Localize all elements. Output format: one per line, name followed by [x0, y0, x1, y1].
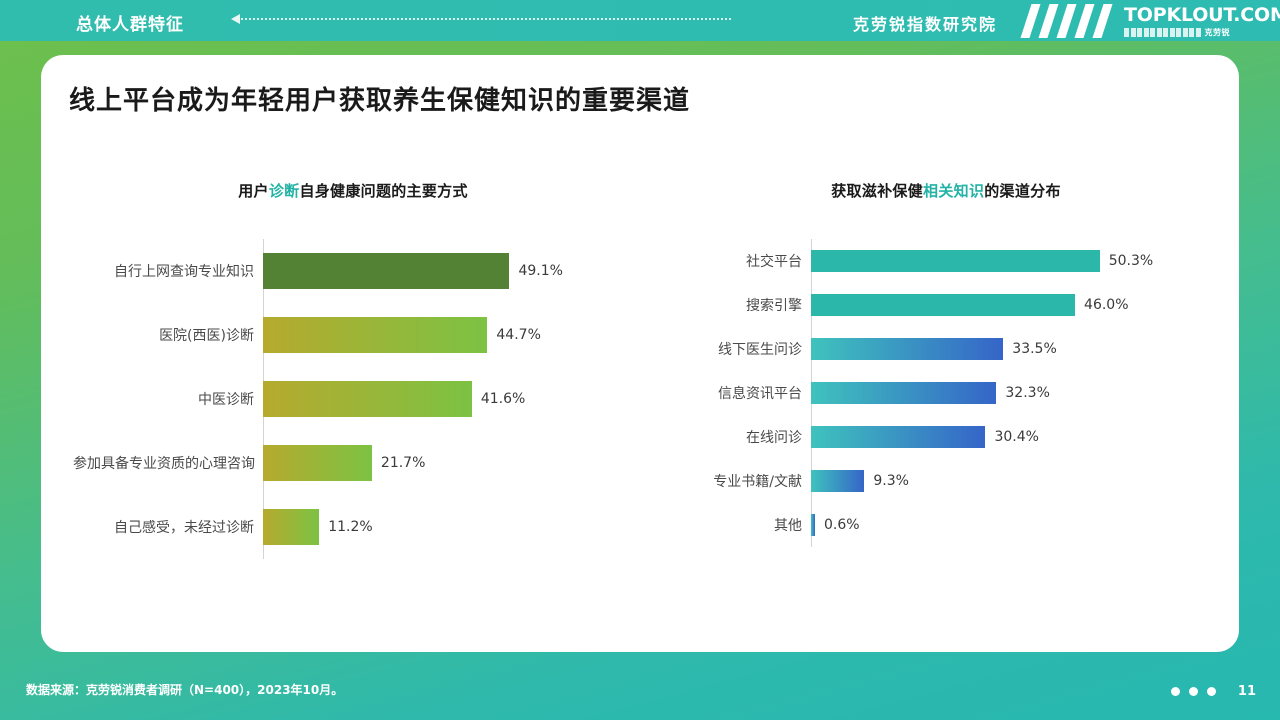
bar-chart-right: 社交平台50.3%搜索引擎46.0%线下医生问诊33.5%信息资讯平台32.3%…	[681, 239, 1211, 547]
bar-category-label: 在线问诊	[681, 427, 811, 447]
logo-chinese-name: 克劳锐	[1205, 27, 1231, 38]
bar-track: 32.3%	[811, 382, 1211, 404]
institute-name: 克劳锐指数研究院	[853, 11, 997, 35]
bar-track: 33.5%	[811, 338, 1211, 360]
slide-background: 总体人群特征 克劳锐指数研究院 TOPKLOUT.COM 克劳锐 线上平台成为年…	[0, 0, 1280, 720]
bar-track: 46.0%	[811, 294, 1211, 316]
bar-row: 专业书籍/文献9.3%	[681, 459, 1211, 503]
dotted-line-divider	[241, 18, 731, 20]
bar-row: 线下医生问诊33.5%	[681, 327, 1211, 371]
bar	[811, 294, 1075, 316]
content-card: 线上平台成为年轻用户获取养生保健知识的重要渠道 用户诊断自身健康问题的主要方式 …	[41, 55, 1239, 652]
logo-wordmark: TOPKLOUT.COM	[1124, 5, 1264, 25]
bar-row: 搜索引擎46.0%	[681, 283, 1211, 327]
bar-row: 中医诊断41.6%	[73, 367, 633, 431]
chart-panel-right: 获取滋补保健相关知识的渠道分布 社交平台50.3%搜索引擎46.0%线下医生问诊…	[681, 180, 1211, 580]
bar-track: 49.1%	[263, 253, 633, 289]
arrow-left-icon	[231, 14, 240, 24]
bar-value-label: 30.4%	[994, 429, 1038, 445]
footer-right-group: 11	[1171, 684, 1256, 699]
bar	[811, 382, 996, 404]
topklout-logo: TOPKLOUT.COM 克劳锐	[1124, 5, 1264, 38]
bar-row: 在线问诊30.4%	[681, 415, 1211, 459]
chart-title-right-part-2: 相关知识	[923, 182, 984, 200]
bar-category-label: 搜索引擎	[681, 295, 811, 315]
bar	[263, 445, 372, 481]
bar-track: 44.7%	[263, 317, 633, 353]
pagination-dots-icon	[1171, 687, 1216, 696]
bar-row: 医院(西医)诊断44.7%	[73, 303, 633, 367]
bar-track: 0.6%	[811, 514, 1211, 536]
header-bar: 总体人群特征 克劳锐指数研究院 TOPKLOUT.COM 克劳锐	[0, 0, 1280, 41]
bar-category-label: 专业书籍/文献	[681, 471, 811, 491]
bar-value-label: 46.0%	[1084, 297, 1128, 313]
bar-track: 11.2%	[263, 509, 633, 545]
bar-value-label: 32.3%	[1005, 385, 1049, 401]
bar-value-label: 0.6%	[824, 517, 860, 533]
bar	[811, 426, 985, 448]
bar-value-label: 49.1%	[518, 263, 562, 279]
bar-value-label: 9.3%	[873, 473, 909, 489]
bar-row: 参加具备专业资质的心理咨询21.7%	[73, 431, 633, 495]
bar-chart-left: 自行上网查询专业知识49.1%医院(西医)诊断44.7%中医诊断41.6%参加具…	[73, 239, 633, 559]
bar-row: 社交平台50.3%	[681, 239, 1211, 283]
bar-category-label: 自己感受，未经过诊断	[73, 517, 263, 537]
chart-panel-left: 用户诊断自身健康问题的主要方式 自行上网查询专业知识49.1%医院(西医)诊断4…	[73, 180, 633, 580]
bar-category-label: 其他	[681, 515, 811, 535]
bar	[263, 381, 472, 417]
bar-value-label: 41.6%	[481, 391, 525, 407]
bar	[811, 470, 864, 492]
bar	[811, 250, 1100, 272]
bar-value-label: 33.5%	[1012, 341, 1056, 357]
bar	[263, 253, 509, 289]
bar-value-label: 44.7%	[496, 327, 540, 343]
bar-category-label: 线下医生问诊	[681, 339, 811, 359]
bar-row: 其他0.6%	[681, 503, 1211, 547]
bar-row: 信息资讯平台32.3%	[681, 371, 1211, 415]
section-title: 总体人群特征	[76, 10, 184, 35]
bar-track: 30.4%	[811, 426, 1211, 448]
bar	[263, 317, 487, 353]
bar-category-label: 参加具备专业资质的心理咨询	[73, 453, 263, 473]
bar-row: 自行上网查询专业知识49.1%	[73, 239, 633, 303]
chart-title-right: 获取滋补保健相关知识的渠道分布	[681, 180, 1211, 201]
slashes-decoration-icon	[1024, 4, 1120, 38]
logo-subtitle-row: 克劳锐	[1124, 27, 1264, 38]
bar-category-label: 医院(西医)诊断	[73, 325, 263, 345]
bar-track: 41.6%	[263, 381, 633, 417]
bar	[263, 509, 319, 545]
chart-title-left-part-1: 用户	[238, 182, 269, 200]
bar-category-label: 信息资讯平台	[681, 383, 811, 403]
bar	[811, 514, 815, 536]
bar-track: 21.7%	[263, 445, 633, 481]
bar-track: 9.3%	[811, 470, 1211, 492]
data-source-note: 数据来源：克劳锐消费者调研（N=400），2023年10月。	[26, 681, 343, 698]
chart-title-right-part-1: 获取滋补保健	[831, 182, 923, 200]
page-title: 线上平台成为年轻用户获取养生保健知识的重要渠道	[69, 80, 690, 117]
bar-track: 50.3%	[811, 250, 1211, 272]
bar	[811, 338, 1003, 360]
bar-value-label: 11.2%	[328, 519, 372, 535]
chart-title-left-part-2: 诊断	[269, 182, 300, 200]
chart-title-right-part-3: 的渠道分布	[984, 182, 1061, 200]
bar-row: 自己感受，未经过诊断11.2%	[73, 495, 633, 559]
logo-bars-icon	[1124, 28, 1201, 37]
bar-category-label: 社交平台	[681, 251, 811, 271]
page-number: 11	[1238, 684, 1256, 699]
bar-value-label: 50.3%	[1109, 253, 1153, 269]
bar-value-label: 21.7%	[381, 455, 425, 471]
chart-title-left-part-3: 自身健康问题的主要方式	[299, 182, 467, 200]
chart-title-left: 用户诊断自身健康问题的主要方式	[73, 180, 633, 201]
bar-category-label: 中医诊断	[73, 389, 263, 409]
bar-category-label: 自行上网查询专业知识	[73, 261, 263, 281]
